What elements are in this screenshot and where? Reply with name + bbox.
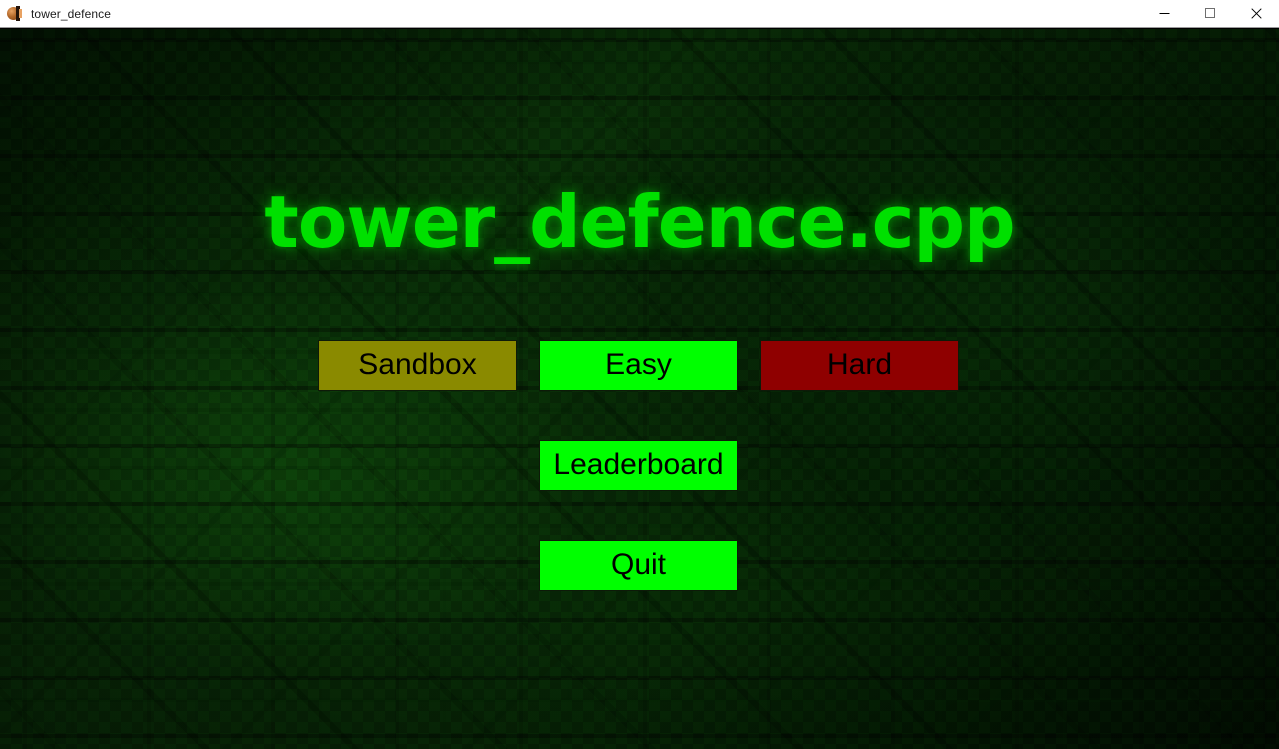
close-icon xyxy=(1251,8,1262,19)
window-controls xyxy=(1141,0,1279,27)
application-window: tower_defence xyxy=(0,0,1279,749)
window-title-text: tower_defence xyxy=(31,7,111,21)
leaderboard-button[interactable]: Leaderboard xyxy=(539,440,738,491)
quit-button[interactable]: Quit xyxy=(539,540,738,591)
hard-button[interactable]: Hard xyxy=(760,340,959,391)
game-canvas: tower_defence.cpp Sandbox Easy Hard Lead… xyxy=(0,29,1279,749)
sandbox-button[interactable]: Sandbox xyxy=(318,340,517,391)
main-menu: tower_defence.cpp Sandbox Easy Hard Lead… xyxy=(0,29,1279,749)
easy-button[interactable]: Easy xyxy=(539,340,738,391)
maximize-button[interactable] xyxy=(1187,0,1233,27)
app-icon-tip xyxy=(19,9,22,18)
minimize-icon xyxy=(1159,8,1170,19)
minimize-button[interactable] xyxy=(1141,0,1187,27)
window-titlebar[interactable]: tower_defence xyxy=(0,0,1279,28)
close-button[interactable] xyxy=(1233,0,1279,27)
maximize-icon xyxy=(1205,8,1216,19)
app-icon[interactable] xyxy=(7,6,23,22)
game-title: tower_defence.cpp xyxy=(0,186,1279,258)
